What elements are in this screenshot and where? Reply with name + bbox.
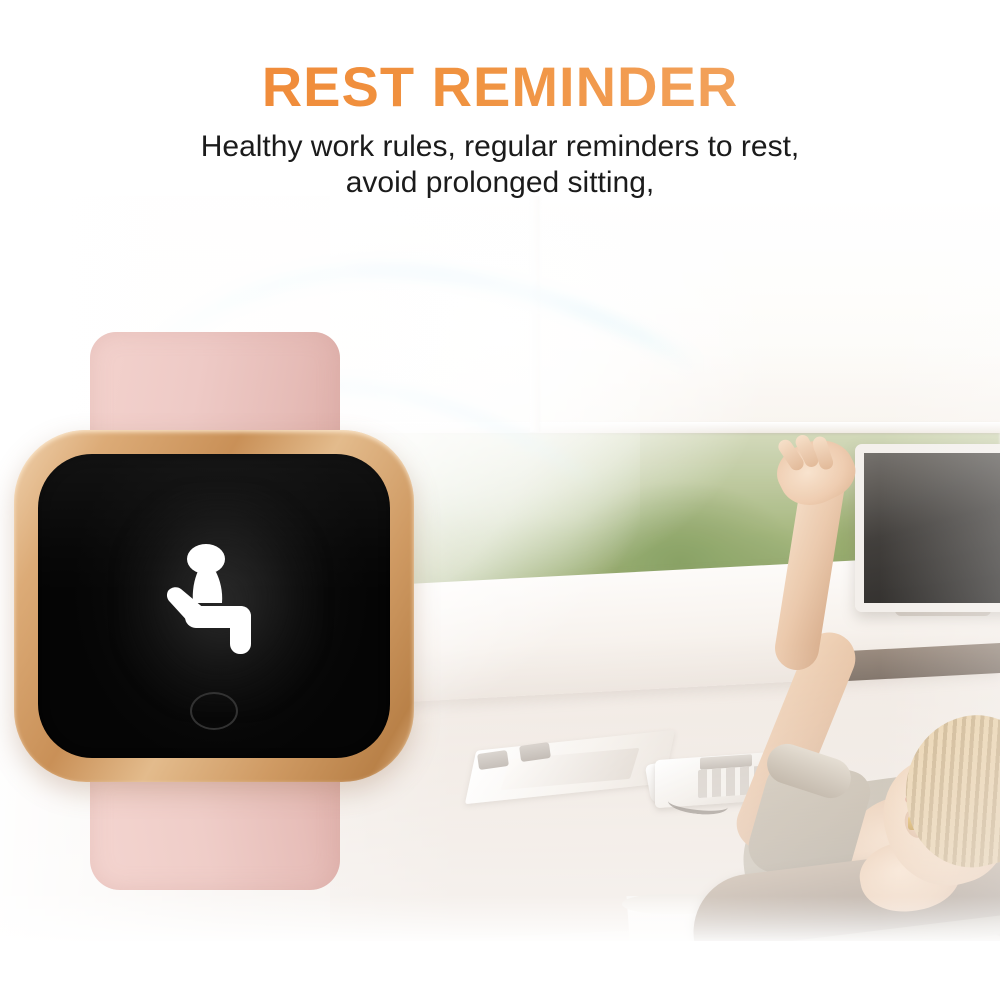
smartwatch[interactable] (14, 326, 414, 906)
subtitle-line-1: Healthy work rules, regular reminders to… (0, 129, 1000, 166)
product-banner: REST REMINDER Healthy work rules, regula… (0, 0, 1000, 1000)
home-button-icon[interactable] (190, 692, 238, 730)
headline-block: REST REMINDER Healthy work rules, regula… (0, 58, 1000, 202)
watch-case (14, 430, 414, 782)
page-title: REST REMINDER (0, 58, 1000, 117)
watch-band-bottom (90, 770, 340, 890)
watch-screen[interactable] (38, 454, 390, 758)
person-sitting-icon (150, 533, 278, 661)
subtitle-line-2: avoid prolonged sitting, (0, 165, 1000, 202)
page-subtitle: Healthy work rules, regular reminders to… (0, 129, 1000, 202)
